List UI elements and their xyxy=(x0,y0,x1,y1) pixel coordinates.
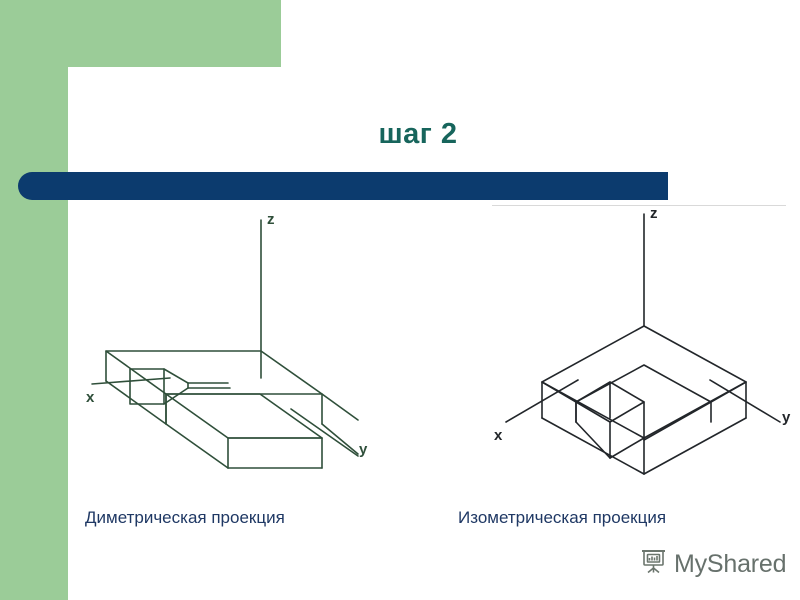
green-left-strip xyxy=(0,0,68,600)
x-axis-line xyxy=(92,378,170,384)
bottom-right-outer-edge xyxy=(644,418,746,474)
isometric-y-label: y xyxy=(782,409,791,426)
notch-bottom-right xyxy=(610,438,644,458)
dimetric-projection-figure: z x y xyxy=(70,206,400,481)
page-title: шаг 2 xyxy=(68,118,768,151)
isometric-projection-figure: z x y xyxy=(480,200,800,480)
isometric-x-label: x xyxy=(494,427,503,444)
isometric-drawing: z x y xyxy=(480,200,800,480)
y-axis-line xyxy=(291,409,358,456)
dimetric-x-label: x xyxy=(86,389,95,406)
slide: шаг 2 xyxy=(0,0,800,600)
isometric-caption: Изометрическая проекция xyxy=(458,508,666,528)
watermark-label: MyShared xyxy=(674,550,786,579)
plate-to-y-edge xyxy=(322,394,358,420)
presentation-board-icon xyxy=(640,548,667,580)
dimetric-y-label: y xyxy=(359,441,368,458)
small-block-top-right xyxy=(164,369,188,383)
title-accent-bar xyxy=(18,172,668,200)
bottom-left-outer-edge xyxy=(542,418,644,474)
small-block-face xyxy=(130,369,164,404)
plate-bottom-to-y xyxy=(322,424,358,454)
green-top-band xyxy=(0,0,281,67)
y-axis-line xyxy=(710,380,780,422)
front-bar-top-face xyxy=(166,394,322,438)
myshared-watermark: MyShared xyxy=(640,548,786,580)
dimetric-caption: Диметрическая проекция xyxy=(85,508,285,528)
dimetric-drawing: z x y xyxy=(70,206,400,481)
dimetric-z-label: z xyxy=(267,211,275,228)
isometric-z-label: z xyxy=(650,205,658,222)
